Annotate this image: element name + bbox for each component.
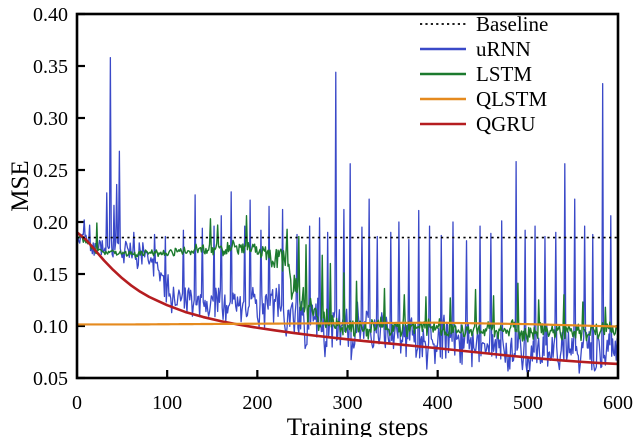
x-tick-label: 600 <box>603 392 633 414</box>
x-tick-label: 100 <box>152 392 182 414</box>
y-tick-label: 0.05 <box>33 368 68 390</box>
x-tick-label: 300 <box>333 392 363 414</box>
x-tick-label: 0 <box>72 392 82 414</box>
x-tick-label: 400 <box>423 392 453 414</box>
y-tick-label: 0.40 <box>33 4 68 26</box>
mse-training-chart: 0.050.100.150.200.250.300.350.4001002003… <box>0 0 638 437</box>
y-tick-label: 0.20 <box>33 212 68 234</box>
y-axis-label: MSE <box>7 160 34 211</box>
x-axis-label: Training steps <box>287 414 428 437</box>
y-tick-label: 0.25 <box>33 160 68 182</box>
legend-label: QLSTM <box>476 87 548 111</box>
y-tick-label: 0.15 <box>33 264 68 286</box>
legend-label: Baseline <box>476 12 548 36</box>
y-tick-label: 0.30 <box>33 108 68 130</box>
legend-label: LSTM <box>476 62 532 86</box>
y-tick-label: 0.35 <box>33 56 68 78</box>
x-tick-label: 200 <box>242 392 272 414</box>
legend-label: QGRU <box>476 112 536 136</box>
legend-label: uRNN <box>476 37 531 61</box>
x-tick-label: 500 <box>513 392 543 414</box>
y-tick-label: 0.10 <box>33 316 68 338</box>
